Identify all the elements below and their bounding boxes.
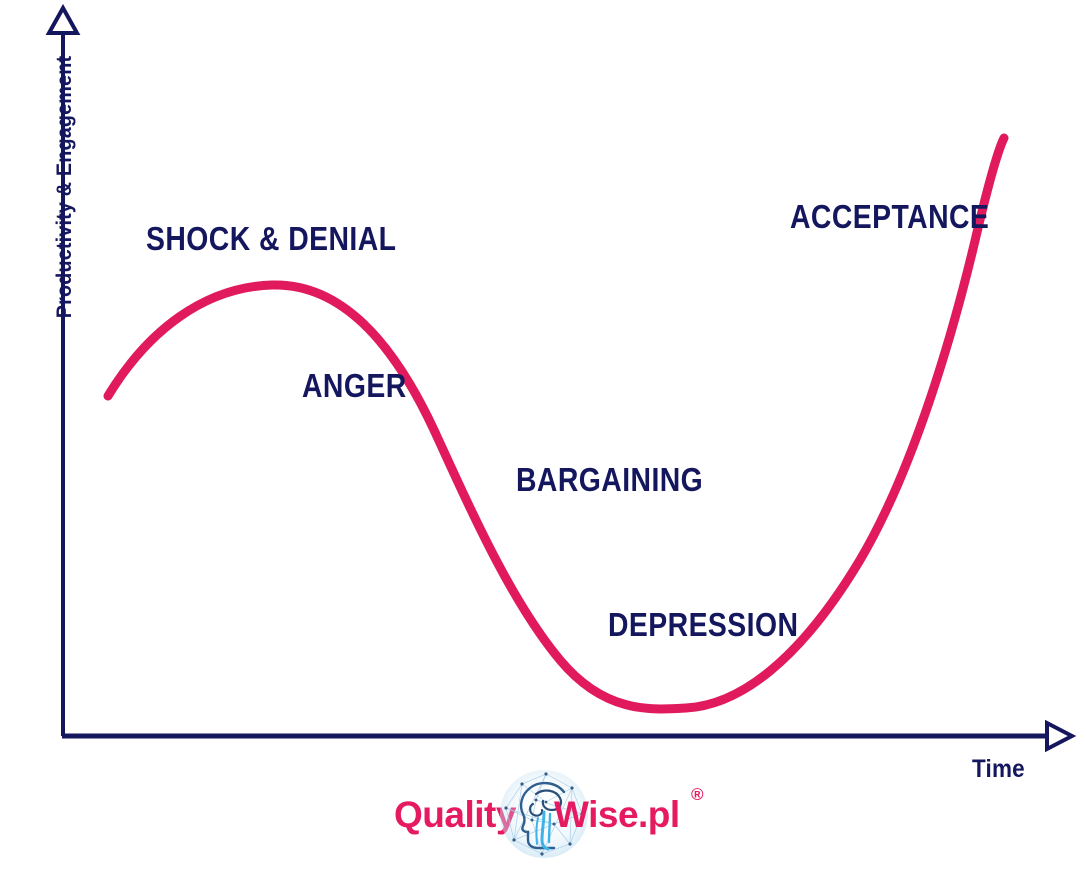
stage-label-acceptance: ACCEPTANCE: [790, 200, 989, 233]
y-axis-title: Productivity & Engagement: [53, 46, 77, 328]
qualitywise-logo: Quality: [388, 762, 718, 866]
registered-trademark-icon: ®: [691, 786, 704, 803]
y-axis-arrowhead-icon: [49, 8, 77, 33]
chart-canvas: [0, 0, 1086, 870]
stage-label-anger: ANGER: [302, 369, 407, 402]
x-axis-title: Time: [972, 755, 1025, 784]
change-curve-figure: Productivity & Engagement Time SHOCK & D…: [0, 0, 1086, 870]
stage-label-depression: DEPRESSION: [608, 608, 798, 641]
stage-label-bargaining: BARGAINING: [516, 463, 703, 496]
x-axis-arrowhead-icon: [1047, 723, 1072, 749]
stage-label-shock-and-denial: SHOCK & DENIAL: [146, 222, 396, 255]
logo-word-wise: Wise.pl: [554, 796, 680, 833]
